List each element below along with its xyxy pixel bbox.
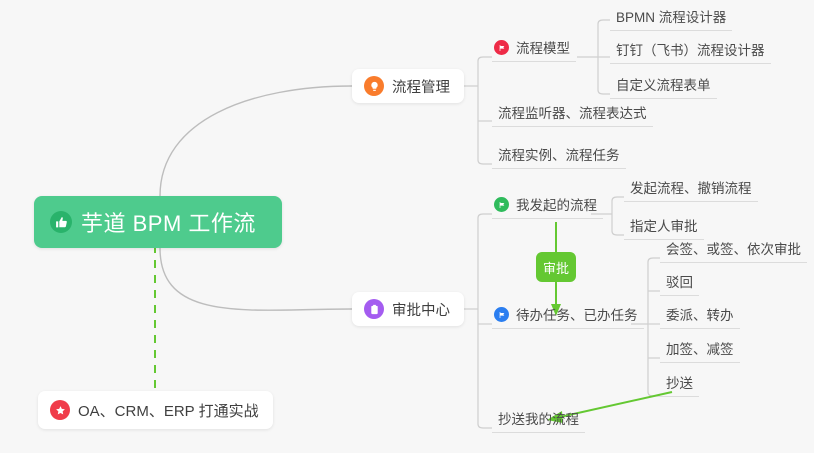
star-icon xyxy=(50,400,70,420)
branch-node-process-management[interactable]: 流程管理 xyxy=(352,69,464,103)
leaf-label: 流程模型 xyxy=(516,41,570,56)
leaf-assignee-approval[interactable]: 指定人审批 xyxy=(624,218,704,240)
leaf-label: 抄送我的流程 xyxy=(498,412,579,427)
leaf-todo-done[interactable]: 待办任务、已办任务 xyxy=(492,307,644,329)
leaf-label: 会签、或签、依次审批 xyxy=(666,242,801,257)
leaf-custom-form[interactable]: 自定义流程表单 xyxy=(610,77,717,99)
root-label: 芋道 BPM 工作流 xyxy=(81,206,256,238)
annotation-tag-approval: 审批 xyxy=(536,252,576,282)
leaf-process-instance[interactable]: 流程实例、流程任务 xyxy=(492,147,626,169)
connector-root-to-process xyxy=(160,86,352,196)
lightbulb-icon xyxy=(364,76,384,96)
root-node[interactable]: 芋道 BPM 工作流 xyxy=(34,196,282,248)
leaf-label: 自定义流程表单 xyxy=(616,78,711,93)
branch-label-process-management: 流程管理 xyxy=(392,76,450,97)
leaf-countersign[interactable]: 会签、或签、依次审批 xyxy=(660,241,807,263)
leaf-start-cancel[interactable]: 发起流程、撤销流程 xyxy=(624,180,758,202)
leaf-cc[interactable]: 抄送 xyxy=(660,375,699,397)
flag-icon xyxy=(494,40,509,55)
leaf-label: 驳回 xyxy=(666,275,693,290)
leaf-bpmn-designer[interactable]: BPMN 流程设计器 xyxy=(610,9,732,31)
leaf-label: BPMN 流程设计器 xyxy=(616,10,726,25)
leaf-label: 抄送 xyxy=(666,376,693,391)
connector-root-to-approval xyxy=(160,248,352,310)
leaf-label: 待办任务、已办任务 xyxy=(516,308,638,323)
flag-icon xyxy=(494,197,509,212)
leaf-label: 流程实例、流程任务 xyxy=(498,148,620,163)
thumbs-up-icon xyxy=(50,211,72,233)
leaf-reject[interactable]: 驳回 xyxy=(660,274,699,296)
annotation-tag-label: 审批 xyxy=(543,258,569,277)
leaf-label: 加签、减签 xyxy=(666,342,734,357)
leaf-dingtalk-designer[interactable]: 钉钉（飞书）流程设计器 xyxy=(610,42,771,64)
mindmap-canvas: 芋道 BPM 工作流 流程管理 流程模型 BPMN 流程设计器 钉钉（飞书）流程… xyxy=(0,0,814,453)
leaf-process-model[interactable]: 流程模型 xyxy=(492,40,576,62)
leaf-label: 流程监听器、流程表达式 xyxy=(498,106,647,121)
branch-node-approval-center[interactable]: 审批中心 xyxy=(352,292,464,326)
leaf-label: 委派、转办 xyxy=(666,308,734,323)
leaf-add-remove-sign[interactable]: 加签、减签 xyxy=(660,341,740,363)
bottom-note-card[interactable]: OA、CRM、ERP 打通实战 xyxy=(38,391,273,429)
clipboard-icon xyxy=(364,299,384,319)
leaf-process-listener[interactable]: 流程监听器、流程表达式 xyxy=(492,105,653,127)
bottom-note-label: OA、CRM、ERP 打通实战 xyxy=(78,400,259,421)
flag-icon xyxy=(494,307,509,322)
leaf-label: 指定人审批 xyxy=(630,219,698,234)
leaf-label: 钉钉（飞书）流程设计器 xyxy=(616,43,765,58)
leaf-cc-to-me[interactable]: 抄送我的流程 xyxy=(492,411,585,433)
branch-label-approval-center: 审批中心 xyxy=(392,299,450,320)
leaf-label: 发起流程、撤销流程 xyxy=(630,181,752,196)
leaf-label: 我发起的流程 xyxy=(516,198,597,213)
leaf-delegate[interactable]: 委派、转办 xyxy=(660,307,740,329)
leaf-my-initiated[interactable]: 我发起的流程 xyxy=(492,197,603,219)
